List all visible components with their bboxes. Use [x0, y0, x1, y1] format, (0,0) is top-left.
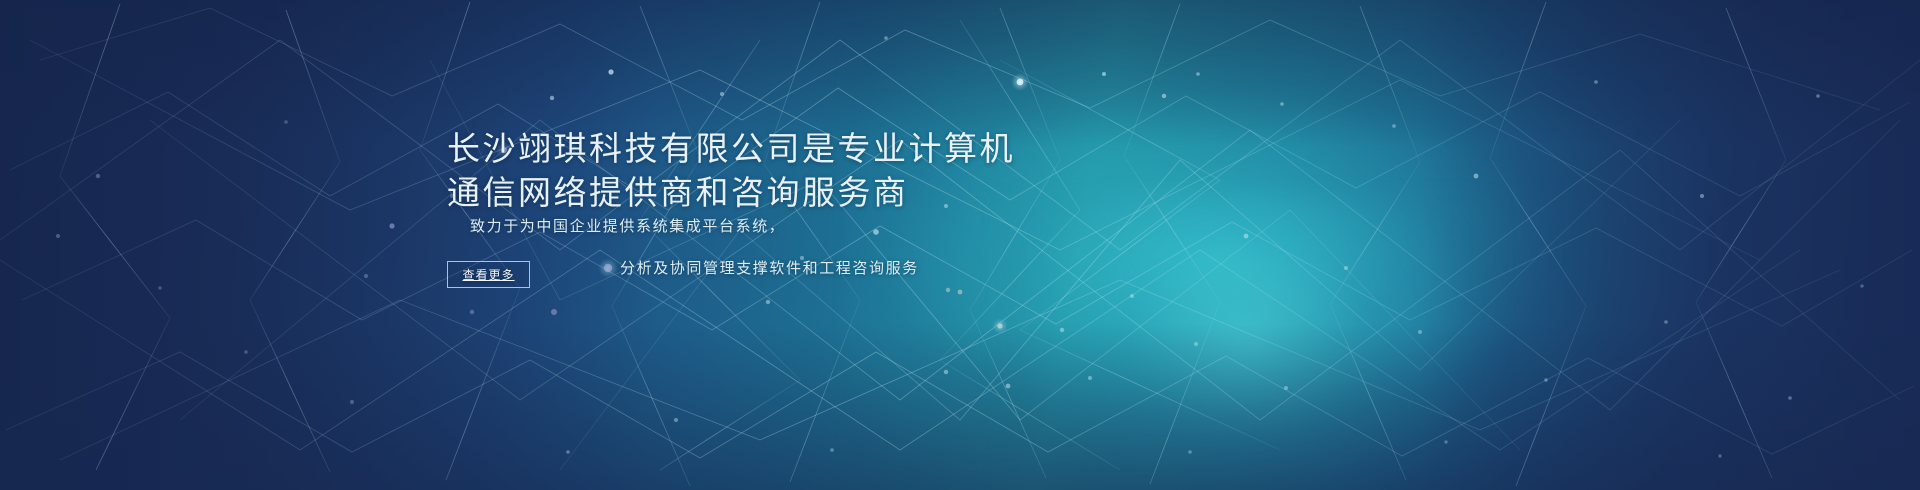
banner-content: 长沙翊琪科技有限公司是专业计算机 通信网络提供商和咨询服务商 致力于为中国企业提…: [0, 0, 1920, 490]
page-title: 长沙翊琪科技有限公司是专业计算机 通信网络提供商和咨询服务商: [447, 127, 1015, 215]
view-more-button[interactable]: 查看更多: [447, 261, 530, 288]
subtitle-line-2: 分析及协同管理支撑软件和工程咨询服务: [620, 257, 919, 278]
headline-line-1: 长沙翊琪科技有限公司是专业计算机: [447, 127, 1015, 171]
headline-line-2: 通信网络提供商和咨询服务商: [447, 171, 1015, 215]
subtitle-line-1: 致力于为中国企业提供系统集成平台系统，: [470, 215, 785, 236]
hero-banner: 长沙翊琪科技有限公司是专业计算机 通信网络提供商和咨询服务商 致力于为中国企业提…: [0, 0, 1920, 490]
